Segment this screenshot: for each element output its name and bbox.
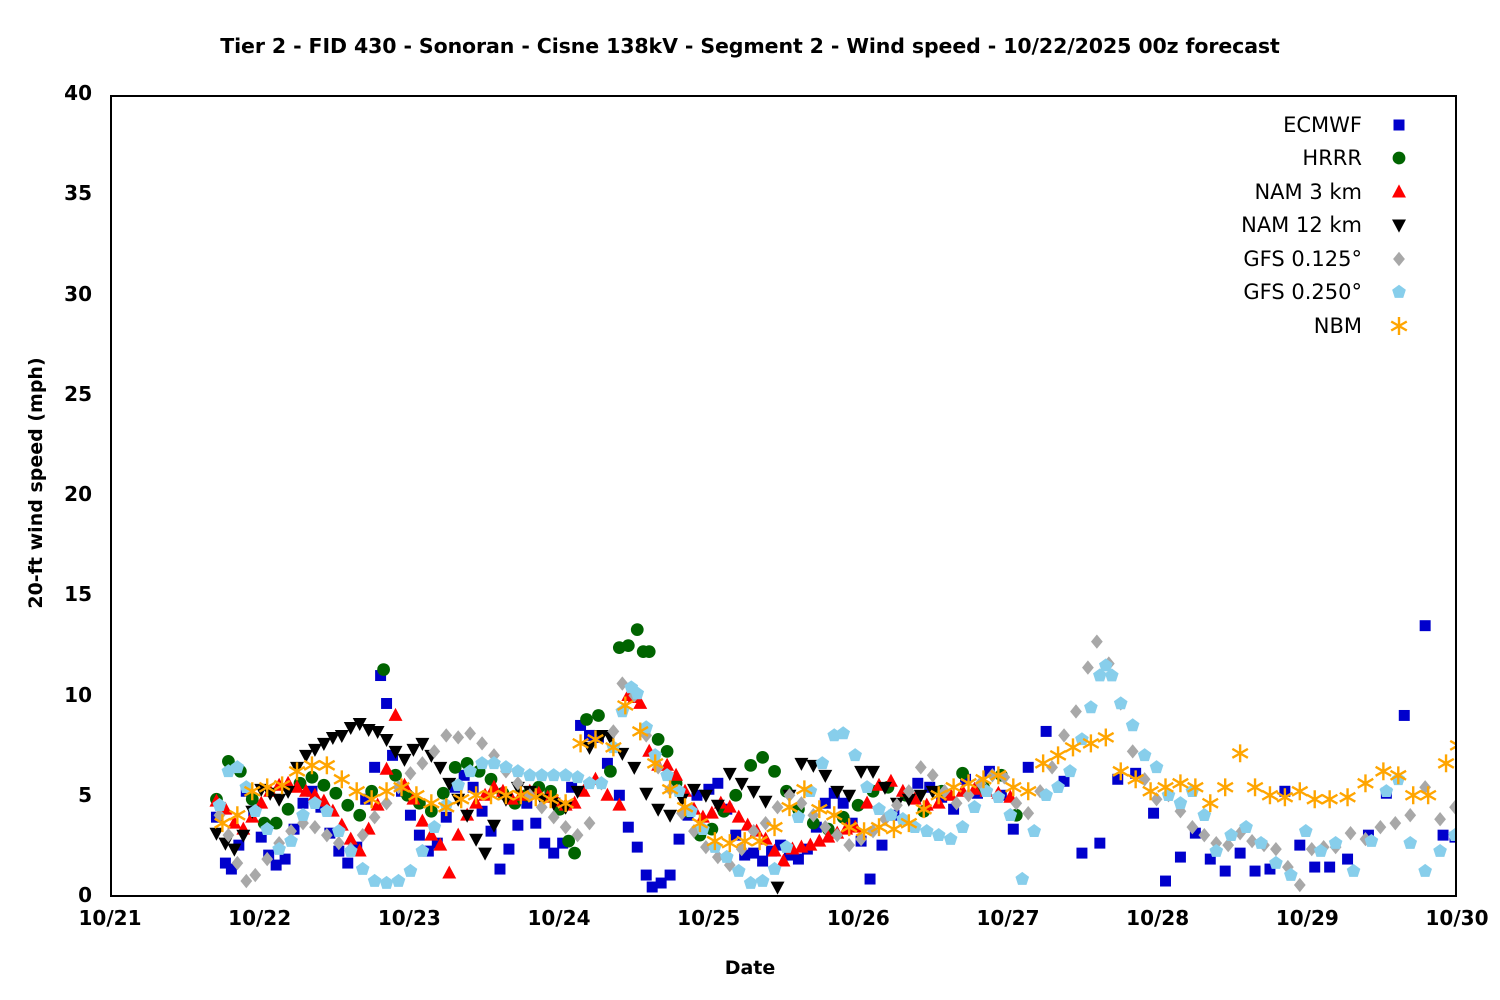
x-tick-label: 10/24 xyxy=(489,906,629,930)
chart-legend: ECMWFHRRRNAM 3 kmNAM 12 kmGFS 0.125°GFS … xyxy=(1140,108,1410,343)
x-tick-label: 10/23 xyxy=(339,906,479,930)
y-tick-label: 40 xyxy=(22,81,92,105)
legend-label: NAM 12 km xyxy=(1241,213,1388,237)
legend-item-ecmwf[interactable]: ECMWF xyxy=(1140,108,1410,142)
x-tick-label: 10/30 xyxy=(1387,906,1500,930)
legend-marker-star-icon xyxy=(1388,315,1410,337)
x-tick-label: 10/27 xyxy=(938,906,1078,930)
legend-item-nbm[interactable]: NBM xyxy=(1140,309,1410,343)
legend-label: NAM 3 km xyxy=(1254,180,1388,204)
legend-marker-diamond-icon xyxy=(1388,248,1410,270)
legend-item-nam-12-km[interactable]: NAM 12 km xyxy=(1140,209,1410,243)
y-tick-label: 25 xyxy=(22,382,92,406)
legend-item-nam-3-km[interactable]: NAM 3 km xyxy=(1140,175,1410,209)
legend-marker-square-icon xyxy=(1388,114,1410,136)
y-tick-label: 10 xyxy=(22,683,92,707)
legend-label: NBM xyxy=(1314,314,1388,338)
x-tick-label: 10/25 xyxy=(639,906,779,930)
chart-figure: Tier 2 - FID 430 - Sonoran - Cisne 138kV… xyxy=(0,0,1500,1000)
series-gfs-0-125 xyxy=(214,634,1455,892)
x-tick-label: 10/22 xyxy=(190,906,330,930)
y-tick-label: 15 xyxy=(22,582,92,606)
legend-marker-triangle-up-icon xyxy=(1388,181,1410,203)
legend-item-gfs-0-250[interactable]: GFS 0.250° xyxy=(1140,276,1410,310)
x-tick-label: 10/29 xyxy=(1237,906,1377,930)
y-tick-label: 5 xyxy=(22,783,92,807)
y-tick-label: 0 xyxy=(22,883,92,907)
x-axis-label: Date xyxy=(0,957,1500,979)
legend-marker-circle-icon xyxy=(1388,147,1410,169)
legend-item-hrrr[interactable]: HRRR xyxy=(1140,142,1410,176)
legend-label: GFS 0.250° xyxy=(1243,280,1388,304)
x-tick-label: 10/21 xyxy=(40,906,180,930)
x-tick-label: 10/26 xyxy=(788,906,928,930)
series-nam-3-km xyxy=(209,688,1017,879)
y-tick-label: 20 xyxy=(22,482,92,506)
legend-marker-pentagon-icon xyxy=(1388,281,1410,303)
y-tick-label: 30 xyxy=(22,282,92,306)
legend-label: GFS 0.125° xyxy=(1243,247,1388,271)
legend-marker-triangle-down-icon xyxy=(1388,214,1410,236)
x-tick-label: 10/28 xyxy=(1088,906,1228,930)
y-tick-label: 35 xyxy=(22,181,92,205)
chart-title: Tier 2 - FID 430 - Sonoran - Cisne 138kV… xyxy=(0,34,1500,58)
series-ecmwf xyxy=(211,620,1455,892)
legend-label: ECMWF xyxy=(1283,113,1388,137)
legend-label: HRRR xyxy=(1302,146,1388,170)
legend-item-gfs-0-125[interactable]: GFS 0.125° xyxy=(1140,242,1410,276)
